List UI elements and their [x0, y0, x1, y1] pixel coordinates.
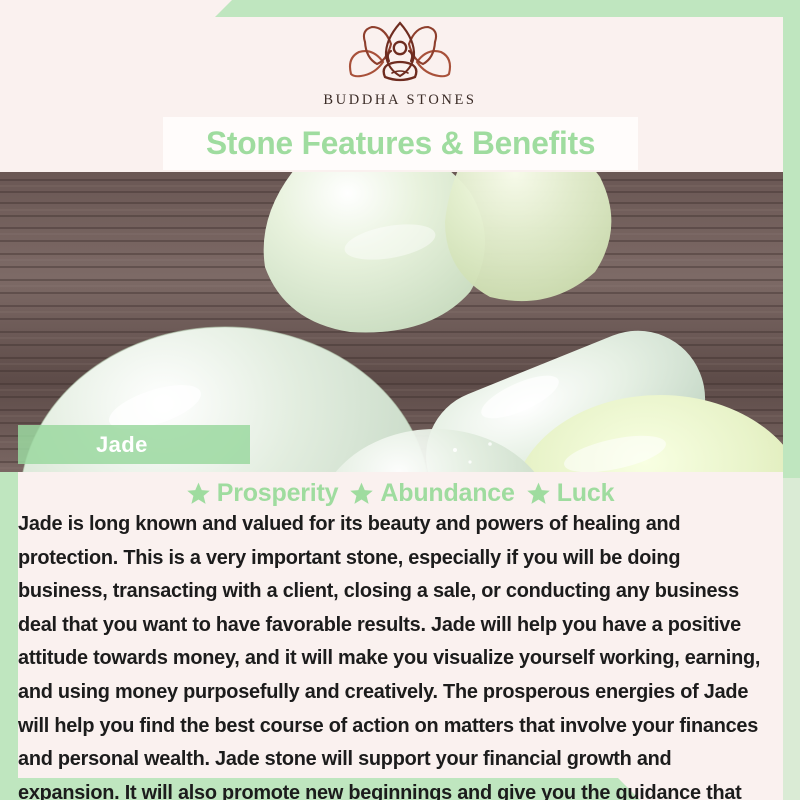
brand-logo: BUDDHA STONES: [0, 20, 800, 109]
benefits-row: Prosperity Abundance Luck: [0, 479, 800, 508]
benefit-label: Prosperity: [217, 479, 339, 508]
benefit-item: Prosperity: [186, 479, 339, 508]
benefit-label: Abundance: [380, 479, 514, 508]
section-title-band: Stone Features & Benefits: [163, 117, 638, 170]
decor-right-strip: [783, 0, 800, 478]
brand-name: BUDDHA STONES: [323, 92, 476, 109]
star-icon: [526, 481, 551, 506]
stone-name-label: Jade: [18, 425, 250, 464]
lotus-meditation-icon: [339, 20, 461, 88]
benefit-item: Luck: [526, 479, 615, 508]
benefit-item: Abundance: [349, 479, 514, 508]
page-title: Stone Features & Benefits: [206, 125, 595, 162]
decor-top-band: [215, 0, 800, 17]
benefit-label: Luck: [557, 479, 615, 508]
star-icon: [349, 481, 374, 506]
stone-name-text: Jade: [96, 432, 148, 458]
infographic-card: Jade: [0, 0, 800, 800]
stone-description: Jade is long known and valued for its be…: [18, 508, 765, 800]
star-icon: [186, 481, 211, 506]
